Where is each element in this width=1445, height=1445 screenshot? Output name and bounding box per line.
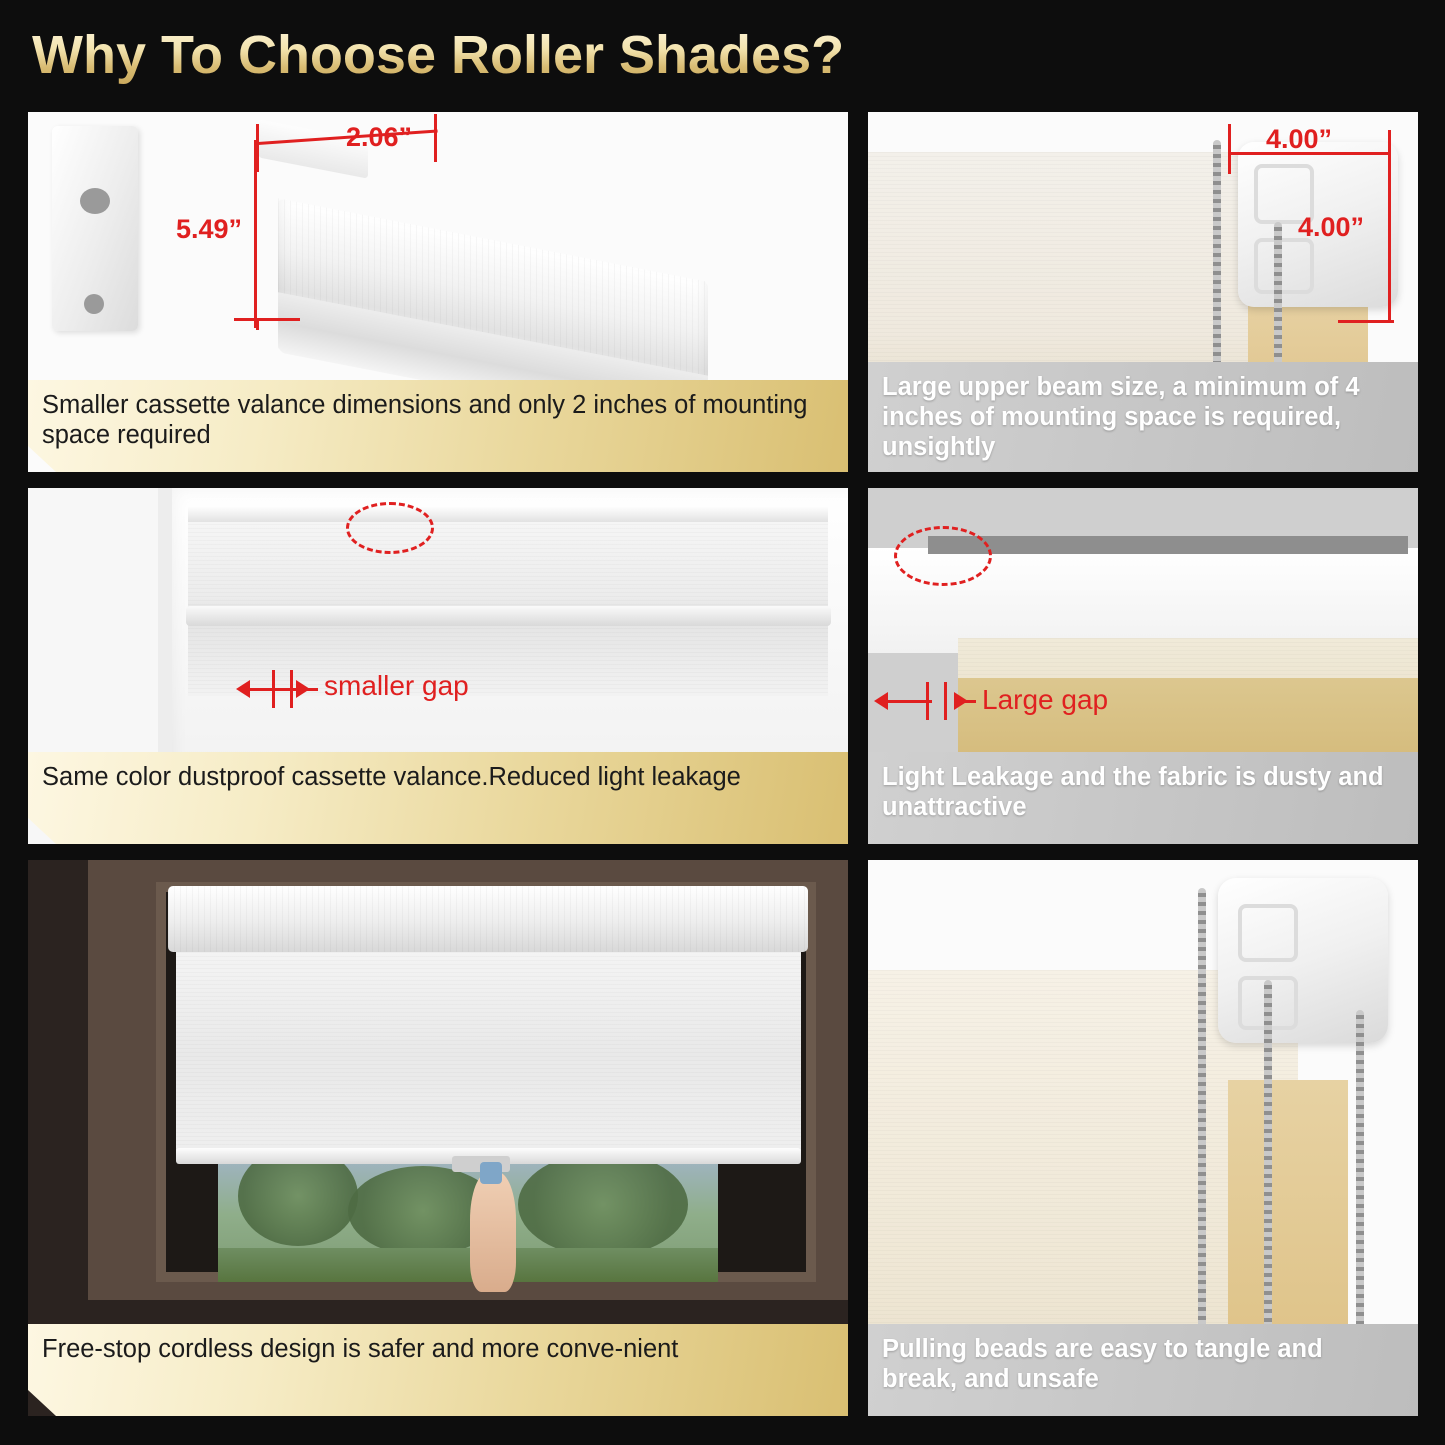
mount-bracket-shadow [928,536,1408,554]
valance-end-cap [52,126,138,331]
finger-grip [480,1162,502,1184]
smaller-gap-label: smaller gap [324,670,469,702]
beam-height-line [1388,172,1391,322]
panel-large-upper-beam-caption: Large upper beam size, a minimum of 4 in… [868,362,1418,472]
panel-smaller-gap: smaller gap Same color dustproof cassett… [28,488,848,844]
panel-large-upper-beam: 4.00” 4.00” Large upper beam size, a min… [868,112,1418,472]
infographic-page: Why To Choose Roller Shades? 2.06” 5.49” [0,0,1445,1445]
tree-shape-3 [518,1152,688,1257]
gap-arrow-right-head [954,692,968,710]
hand [470,1172,516,1292]
beam-height-tick [1338,320,1394,323]
window-glass [218,1160,718,1282]
gap-tick-b [290,670,293,708]
panel-large-gap: Large gap Light Leakage and the fabric i… [868,488,1418,844]
panel-smaller-gap-caption: Same color dustproof cassette valance.Re… [28,752,848,844]
gap-arrow-right-head [296,680,310,698]
gap-highlight-ellipse [894,526,992,586]
large-gap-label: Large gap [982,684,1108,716]
beam-width-label: 4.00” [1266,124,1332,155]
panel-large-gap-caption: Light Leakage and the fabric is dusty an… [868,752,1418,844]
height-dimension-label: 5.49” [176,214,242,245]
beam-bracket-lower [1254,238,1314,294]
page-title: Why To Choose Roller Shades? [32,24,844,86]
gap-tick-b [944,682,947,720]
bead-chain-left[interactable] [1198,888,1206,1388]
width-dimension-label: 2.06” [346,122,412,153]
cassette-valance [168,886,808,952]
lawn [218,1248,718,1282]
end-cap-hole [80,188,110,214]
panel-cassette-valance: 2.06” 5.49” Smaller cassette valance dim… [28,112,848,472]
panel-pulling-beads-caption: Pulling beads are easy to tangle and bre… [868,1324,1418,1416]
height-dim-tick-small [256,318,259,330]
panel-cassette-valance-caption: Smaller cassette valance dimensions and … [28,380,848,472]
height-dim-line [254,140,257,328]
beam-width-tick-left [1228,124,1231,174]
gap-tick-a [272,670,275,708]
height-dim-tick-bottom [234,318,300,321]
shade-rail [186,606,831,626]
gap-arrow-left-line [884,700,932,703]
cassette-valance-edge [188,506,828,522]
panel-cordless-design-caption: Free-stop cordless design is safer and m… [28,1324,848,1416]
beam-height-label: 4.00” [1298,212,1364,243]
width-dim-tick-right [434,114,437,162]
gap-arrow-left-head [236,680,250,698]
roller-shade-fabric [176,948,801,1160]
panel-cordless-design: Free-stop cordless design is safer and m… [28,860,848,1416]
end-cap-screw [84,294,104,314]
beam-bracket [1238,904,1298,962]
panel-pulling-beads: Pulling beads are easy to tangle and bre… [868,860,1418,1416]
gap-highlight-ellipse [346,502,434,554]
gap-arrow-left-head [874,692,888,710]
gap-tick-a [926,682,929,720]
